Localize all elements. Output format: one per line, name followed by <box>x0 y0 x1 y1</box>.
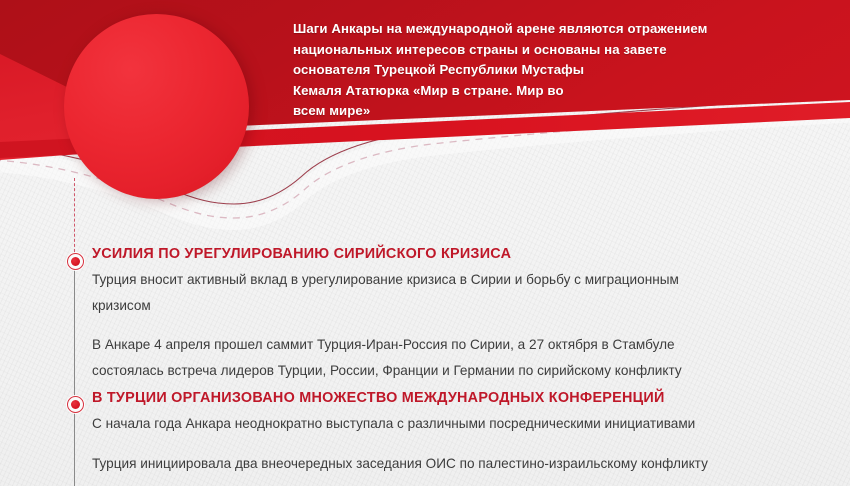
section-international-conferences: В ТУРЦИИ ОРГАНИЗОВАНО МНОЖЕСТВО МЕЖДУНАР… <box>92 389 840 476</box>
section-paragraph: В Анкаре 4 апреля прошел саммит Турция-И… <box>92 332 840 383</box>
section-title: В ТУРЦИИ ОРГАНИЗОВАНО МНОЖЕСТВО МЕЖДУНАР… <box>92 389 840 408</box>
paragraph-line: С начала года Анкара неоднократно выступ… <box>92 411 840 437</box>
section-paragraph: С начала года Анкара неоднократно выступ… <box>92 411 840 437</box>
paragraph-line: Турция инициировала два внеочередных зас… <box>92 451 840 477</box>
content-area: УСИЛИЯ ПО УРЕГУЛИРОВАНИЮ СИРИЙСКОГО КРИЗ… <box>0 0 850 486</box>
paragraph-line: кризисом <box>92 293 840 319</box>
section-syria-crisis: УСИЛИЯ ПО УРЕГУЛИРОВАНИЮ СИРИЙСКОГО КРИЗ… <box>92 245 840 383</box>
section-paragraph: Турция вносит активный вклад в урегулиро… <box>92 267 840 318</box>
section-paragraph: Турция инициировала два внеочередных зас… <box>92 451 840 477</box>
paragraph-line: состоялась встреча лидеров Турции, Росси… <box>92 358 840 384</box>
paragraph-line: В Анкаре 4 апреля прошел саммит Турция-И… <box>92 332 840 358</box>
paragraph-line: Турция вносит активный вклад в урегулиро… <box>92 267 840 293</box>
infographic-slide: Шаги Анкары на международной арене являю… <box>0 0 850 486</box>
section-title: УСИЛИЯ ПО УРЕГУЛИРОВАНИЮ СИРИЙСКОГО КРИЗ… <box>92 245 840 264</box>
